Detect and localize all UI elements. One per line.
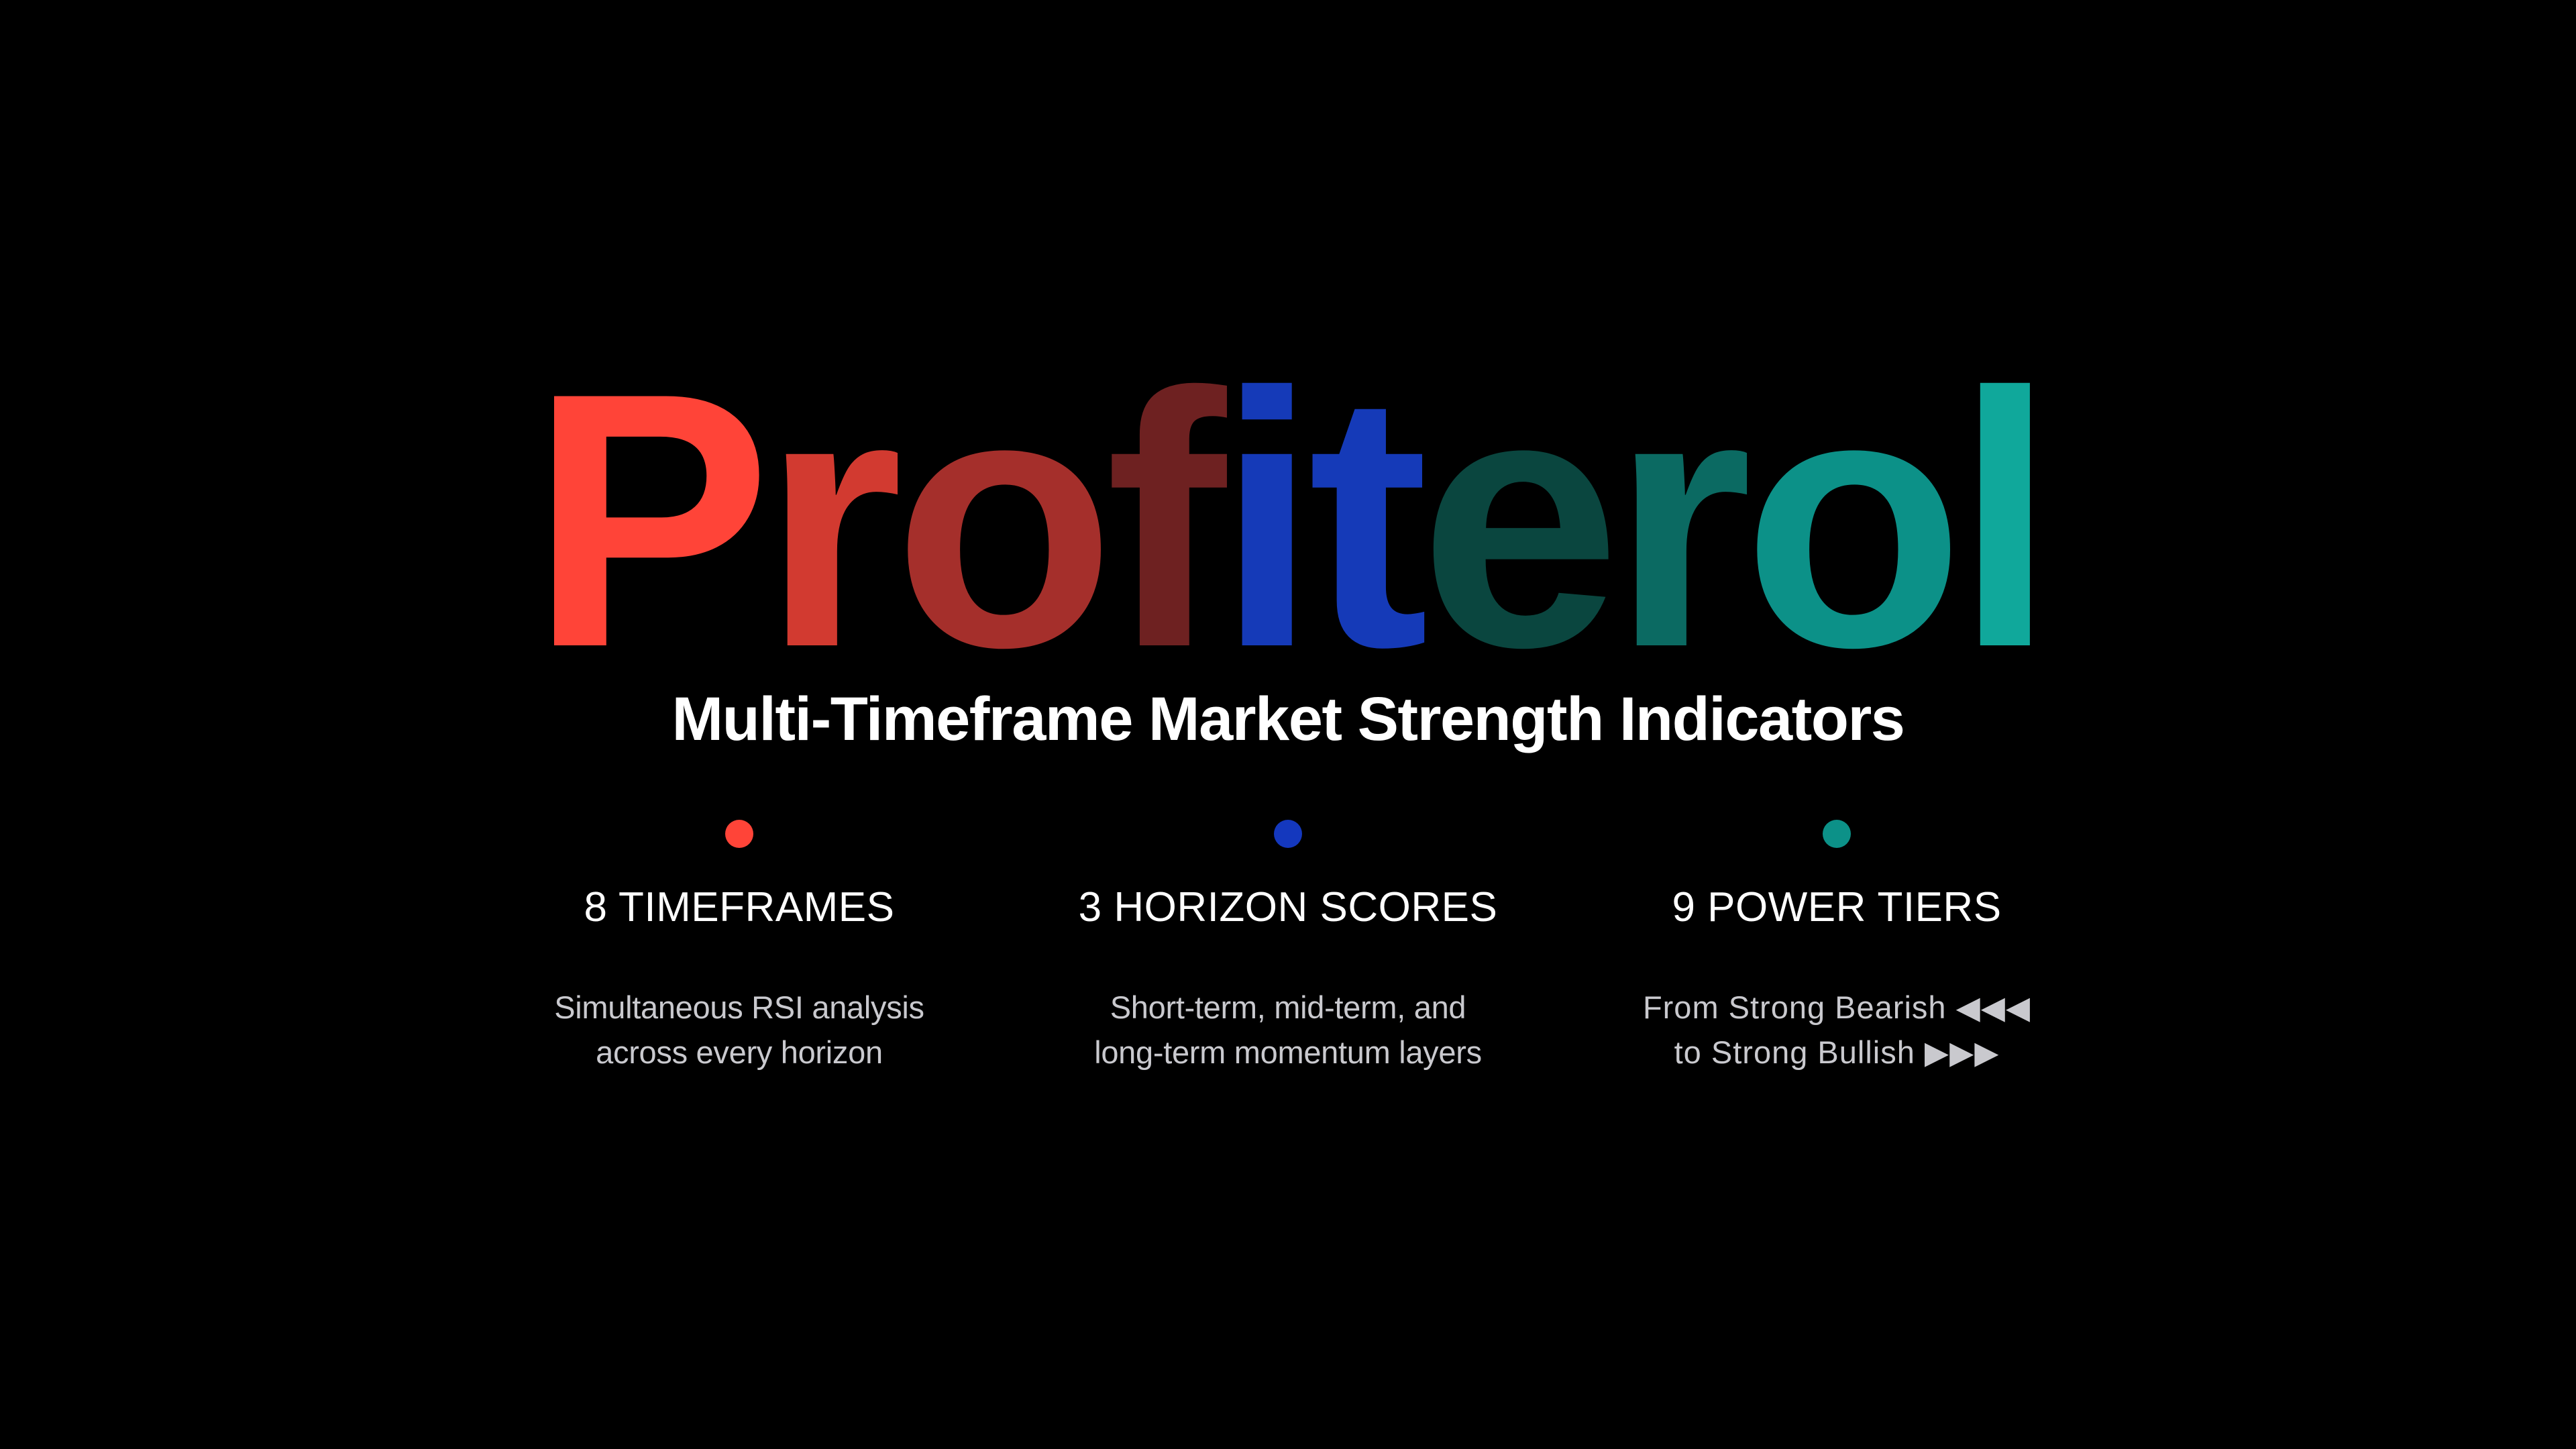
brand-letter-o-2: o — [894, 339, 1106, 702]
brand-letter-t-5: t — [1308, 339, 1419, 702]
brand-letter-i-4: i — [1217, 339, 1308, 702]
feature-heading-power-tiers: 9 POWER TIERS — [1602, 885, 2072, 929]
feature-heading-horizon-scores: 3 HORIZON SCORES — [1053, 885, 1523, 929]
title-slide: Profiterol Multi-Timeframe Market Streng… — [0, 0, 2576, 1449]
feature-column-horizon-scores: 3 HORIZON SCORES Short-term, mid-term, a… — [1053, 820, 1523, 1075]
feature-description-horizon-scores: Short-term, mid-term, and long-term mome… — [1053, 985, 1523, 1075]
feature-column-timeframes: 8 TIMEFRAMES Simultaneous RSI analysis a… — [504, 820, 974, 1075]
feature-description-timeframes: Simultaneous RSI analysis across every h… — [504, 985, 974, 1075]
feature-heading-timeframes: 8 TIMEFRAMES — [504, 885, 974, 929]
brand-letter-o-8: o — [1743, 339, 1955, 702]
brand-letter-f-3: f — [1106, 339, 1217, 702]
description-line: across every horizon — [504, 1030, 974, 1075]
red-dot-icon — [725, 820, 753, 848]
description-line-bullish-arrows: to Strong Bullish ▶▶▶ — [1602, 1030, 2072, 1075]
brand-letter-r-1: r — [762, 339, 894, 702]
blue-dot-icon — [1274, 820, 1302, 848]
brand-letter-l-9: l — [1955, 339, 2046, 702]
description-line: Simultaneous RSI analysis — [504, 985, 974, 1030]
brand-letter-e-6: e — [1419, 339, 1611, 702]
feature-column-power-tiers: 9 POWER TIERS From Strong Bearish ◀◀◀ to… — [1602, 820, 2072, 1075]
description-line: long-term momentum layers — [1053, 1030, 1523, 1075]
brand-letter-r-7: r — [1611, 339, 1743, 702]
page-subtitle: Multi-Timeframe Market Strength Indicato… — [0, 684, 2576, 755]
feature-columns: 8 TIMEFRAMES Simultaneous RSI analysis a… — [0, 820, 2576, 1075]
description-line: Short-term, mid-term, and — [1053, 985, 1523, 1030]
brand-wordmark: Profiterol — [0, 339, 2576, 702]
brand-letter-p-0: P — [530, 339, 762, 702]
description-line-bearish-arrows: From Strong Bearish ◀◀◀ — [1602, 985, 2072, 1030]
teal-dot-icon — [1823, 820, 1851, 848]
feature-description-power-tiers: From Strong Bearish ◀◀◀ to Strong Bullis… — [1602, 985, 2072, 1075]
